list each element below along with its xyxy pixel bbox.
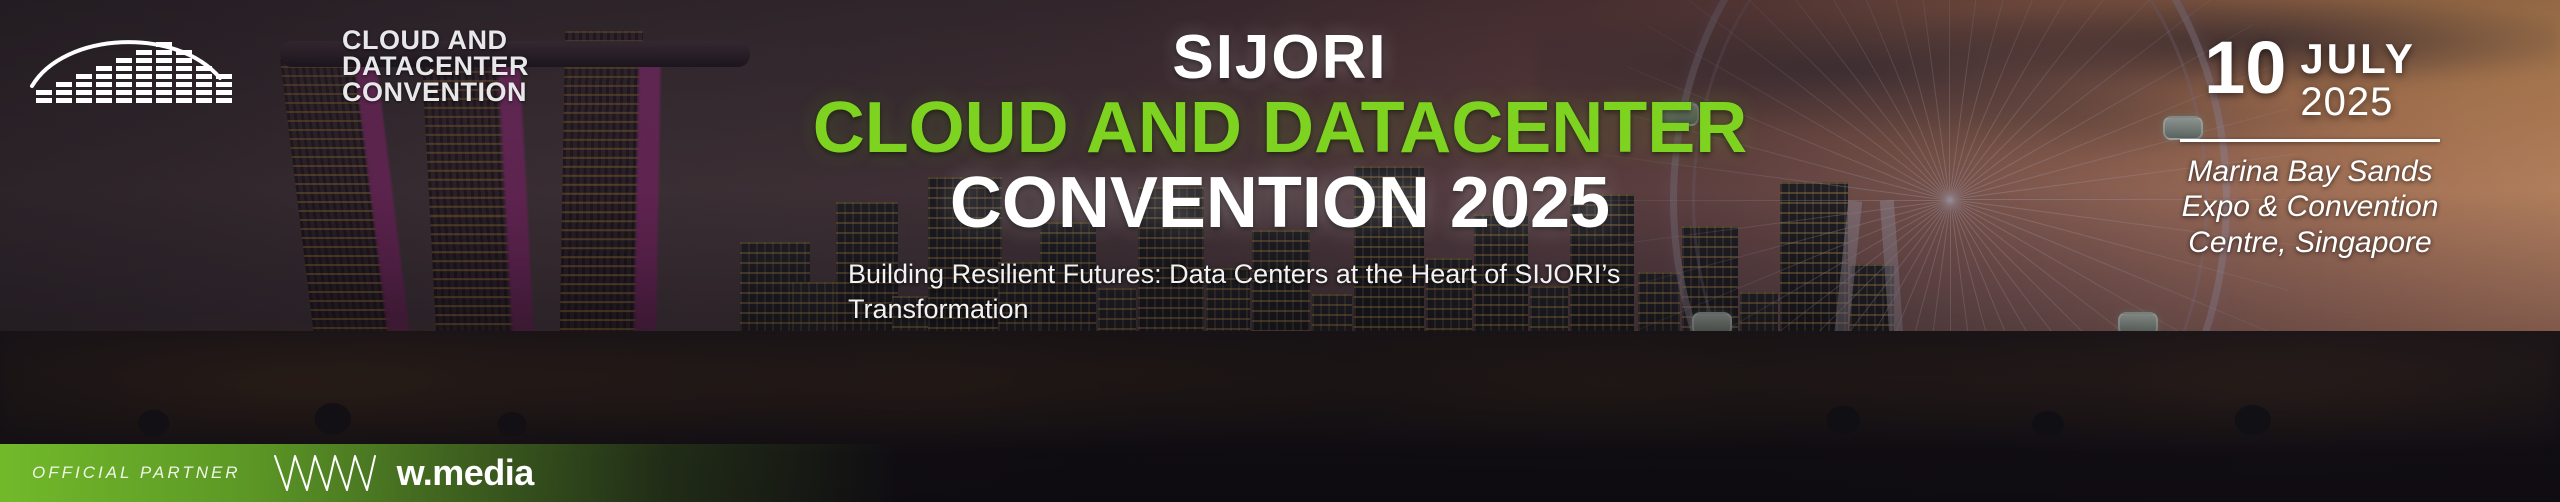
skyline-bars-arc-icon [24, 22, 324, 112]
official-partner-bar: OFFICIAL PARTNER w.media [0, 444, 2560, 502]
venue-line-1: Marina Bay Sands [2100, 154, 2520, 189]
wmedia-wordmark: w.media [397, 452, 534, 494]
official-partner-label: OFFICIAL PARTNER [32, 463, 241, 483]
event-details-panel: 10 JULY 2025 Marina Bay Sands Expo & Con… [2100, 34, 2520, 260]
wmedia-logo[interactable]: w.media [271, 452, 534, 494]
venue-line-3: Centre, Singapore [2100, 225, 2520, 260]
title-region: SIJORI [620, 26, 1940, 89]
event-venue: Marina Bay Sands Expo & Convention Centr… [2100, 154, 2520, 260]
venue-line-2: Expo & Convention [2100, 189, 2520, 224]
event-date: 10 JULY 2025 [2100, 34, 2520, 125]
date-month: JULY [2300, 38, 2416, 80]
event-subtitle: Building Resilient Futures: Data Centers… [840, 257, 1720, 326]
date-day: 10 [2204, 34, 2286, 102]
title-white-line: CONVENTION 2025 [620, 166, 1940, 241]
panel-divider [2180, 139, 2440, 142]
date-year: 2025 [2300, 80, 2416, 125]
wmedia-zigzag-icon [271, 452, 387, 494]
event-banner: CLOUD AND DATACENTER CONVENTION SIJORI C… [0, 0, 2560, 502]
cdc-logo-lockup: CLOUD AND DATACENTER CONVENTION [24, 22, 529, 112]
logo-line-3: CONVENTION [342, 80, 529, 106]
title-green-line: CLOUD AND DATACENTER [620, 91, 1940, 166]
title-block: SIJORI CLOUD AND DATACENTER CONVENTION 2… [620, 26, 1940, 326]
